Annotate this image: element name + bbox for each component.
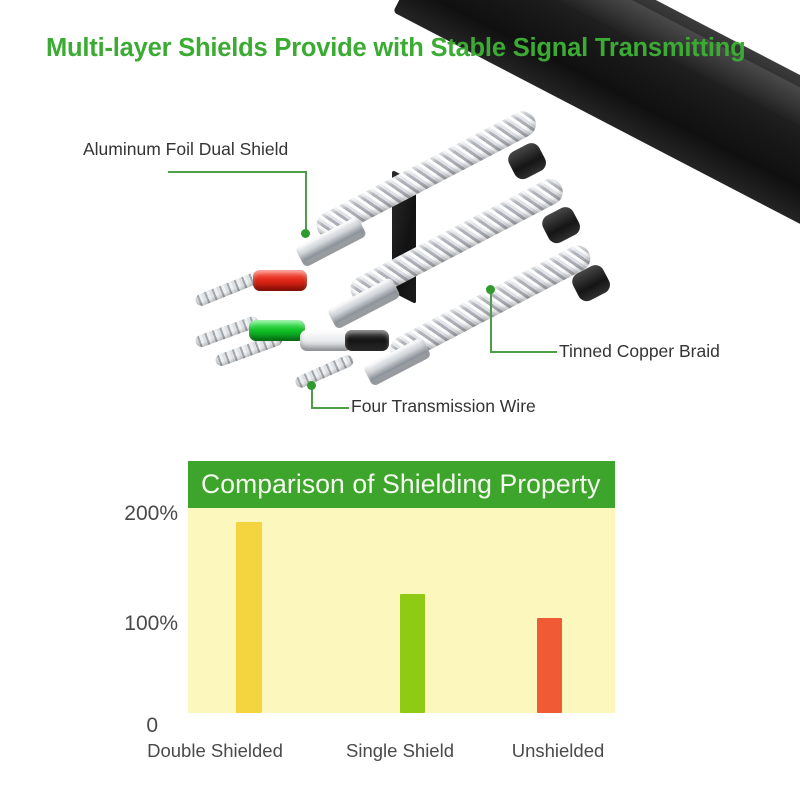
- callout-label-aluminum-foil-dual-shield: Aluminum Foil Dual Shield: [83, 139, 288, 160]
- leader-dot-four-transmission-wire: [307, 381, 316, 390]
- infographic-canvas: Multi-layer Shields Provide with Stable …: [0, 0, 800, 800]
- callout-label-four-transmission-wire: Four Transmission Wire: [351, 396, 536, 417]
- cable-product-illustration: [0, 0, 800, 430]
- transmission-wire-black: [345, 330, 389, 351]
- bar-single-shield[interactable]: [400, 594, 425, 713]
- callout-label-tinned-copper-braid: Tinned Copper Braid: [559, 341, 720, 362]
- y-axis-tick-100: 100%: [58, 612, 178, 636]
- transmission-wire-red: [253, 270, 307, 291]
- bar-double-shielded[interactable]: [236, 522, 262, 713]
- leader-line-wires-horizontal: [311, 407, 349, 409]
- chart-title-bar: Comparison of Shielding Property: [188, 461, 615, 508]
- x-axis-label-unshielded: Unshielded: [463, 740, 653, 762]
- y-axis-tick-200: 200%: [58, 502, 178, 526]
- leader-line-aluminum-vertical: [305, 171, 307, 233]
- x-axis-label-double-shielded: Double Shielded: [120, 740, 310, 762]
- leader-line-braid-horizontal: [490, 351, 557, 353]
- chart-plot-area: [188, 508, 615, 713]
- braid-ferrule-2: [539, 204, 583, 246]
- transmission-wire-green: [249, 320, 305, 341]
- page-title: Multi-layer Shields Provide with Stable …: [46, 34, 786, 63]
- leader-line-braid-vertical: [490, 291, 492, 352]
- y-axis-tick-0: 0: [58, 714, 158, 738]
- shielding-comparison-chart: Comparison of Shielding Property 200% 10…: [0, 440, 800, 800]
- bar-unshielded[interactable]: [537, 618, 562, 713]
- leader-dot-tinned-copper-braid: [486, 285, 495, 294]
- chart-title: Comparison of Shielding Property: [188, 461, 615, 508]
- leader-line-wires-vertical: [311, 387, 313, 408]
- bare-conductor-strand-4: [294, 353, 356, 389]
- braid-ferrule-1: [505, 140, 549, 182]
- leader-line-aluminum-horizontal: [168, 171, 306, 173]
- leader-dot-aluminum-foil-dual-shield: [301, 229, 310, 238]
